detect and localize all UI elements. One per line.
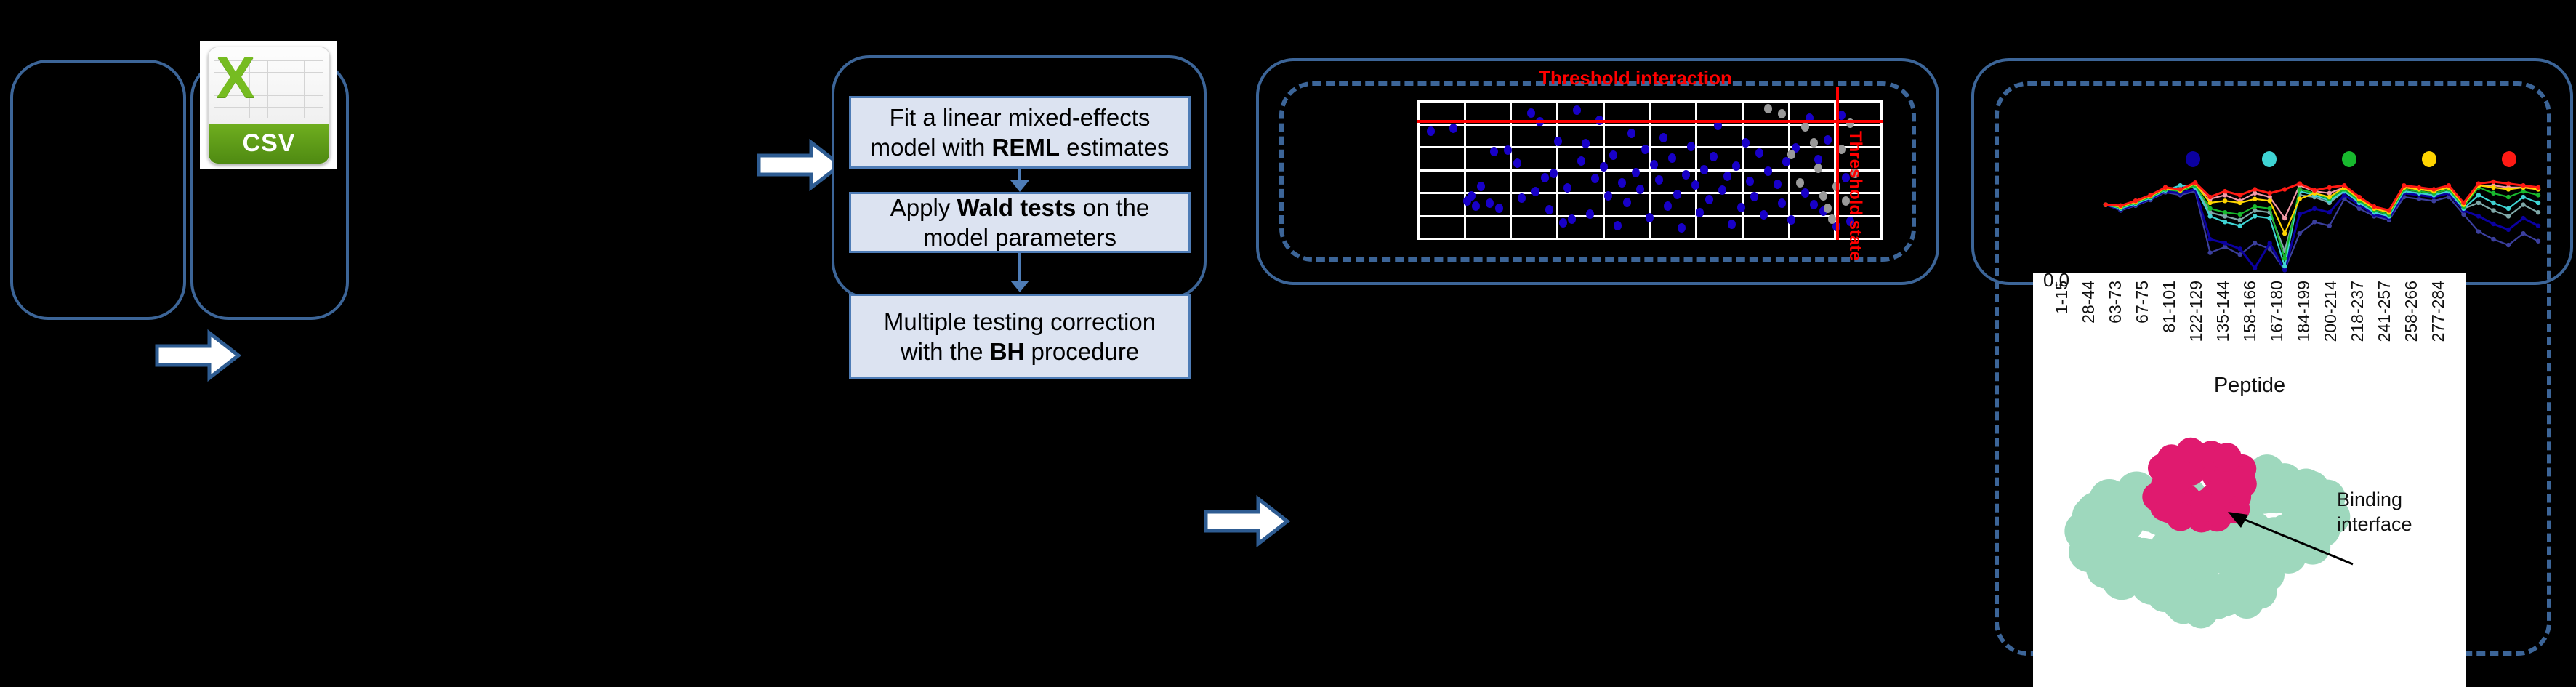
scatter-point (1824, 204, 1832, 213)
scatter-point (1632, 168, 1640, 177)
arrow-into-input-icon (154, 329, 241, 382)
peptide-tick-label: 258-266 (2402, 281, 2421, 342)
scatter-point (1760, 210, 1768, 220)
line-marker (2298, 187, 2302, 191)
csv-file-icon[interactable]: X CSV (208, 47, 330, 164)
line-marker (2312, 220, 2317, 224)
line-marker (2267, 198, 2271, 203)
scatter-point (1659, 133, 1667, 142)
scatter-point (1554, 137, 1562, 146)
scatter-point (1468, 191, 1476, 201)
scatter-point (1787, 150, 1795, 159)
peptide-tick-label: 1-15 (2052, 281, 2072, 314)
line-marker (2491, 237, 2495, 241)
scatter-point (1627, 129, 1635, 138)
line-marker (2104, 202, 2108, 206)
scatter-point (1591, 174, 1599, 183)
line-marker (2237, 201, 2242, 205)
line-marker (2223, 241, 2227, 245)
threshold-state-line (1836, 87, 1839, 240)
line-marker (2163, 185, 2168, 190)
scatter-plot-area[interactable] (1417, 100, 1883, 240)
scatter-point (1559, 218, 1567, 228)
line-marker (2327, 210, 2332, 214)
line-marker (2372, 204, 2376, 209)
line-marker (2267, 241, 2271, 245)
scatter-point (1737, 203, 1745, 212)
scatter-point (1604, 191, 1612, 201)
binding-interface-line1: Binding (2337, 487, 2412, 512)
scatter-point (1801, 188, 1809, 198)
line-marker (2402, 183, 2406, 188)
line-marker (2223, 220, 2227, 224)
scatter-point (1764, 104, 1772, 113)
peptide-tick-label: 122-129 (2186, 281, 2206, 342)
line-marker (2253, 204, 2257, 209)
line-marker (2491, 201, 2495, 205)
scatter-point (1810, 200, 1818, 209)
line-marker (2476, 229, 2481, 233)
peptide-tick-label: 218-237 (2348, 281, 2367, 342)
line-marker (2312, 188, 2317, 193)
line-marker (2327, 195, 2332, 199)
volcano-scatter-chart[interactable]: Threshold interaction Threshold state (1367, 87, 1904, 269)
line-marker (2282, 264, 2287, 268)
scatter-point (1755, 148, 1763, 158)
scatter-point (1541, 173, 1549, 182)
scatter-point (1513, 158, 1521, 168)
line-marker (2476, 201, 2481, 205)
flow-box-wald[interactable]: Apply Wald tests on the model parameters (849, 192, 1191, 253)
csv-sheet-body: X (209, 47, 329, 124)
legend-dot-red (2502, 151, 2516, 167)
flow-box-reml[interactable]: Fit a linear mixed-effects model with RE… (849, 96, 1191, 169)
scatter-point (1531, 187, 1539, 196)
scatter-point (1655, 175, 1663, 185)
scatter-point (1746, 177, 1754, 186)
line-marker (2506, 195, 2511, 199)
line-marker (2447, 183, 2451, 188)
scatter-point (1545, 205, 1553, 214)
peptide-tick-label: 200-214 (2321, 281, 2340, 342)
scatter-point (1828, 214, 1836, 224)
scatter-point (1609, 150, 1617, 160)
binding-interface-line2: interface (2337, 512, 2412, 537)
line-marker (2282, 187, 2287, 191)
line-marker (2298, 196, 2302, 201)
line-marker (2417, 185, 2421, 190)
scatter-point (1742, 138, 1750, 148)
line-marker (2118, 204, 2122, 208)
line-marker (2312, 206, 2317, 211)
scatter-point (1687, 142, 1695, 151)
line-marker (2237, 218, 2242, 222)
scatter-point (1732, 161, 1740, 171)
scatter-point (1691, 180, 1699, 190)
legend-dot-navy (2186, 151, 2200, 167)
line-marker (2298, 212, 2302, 217)
line-marker (2491, 180, 2495, 184)
legend-dot-yellow (2422, 151, 2436, 167)
line-marker (2193, 180, 2197, 185)
line-marker (2536, 185, 2540, 190)
line-marker (2476, 193, 2481, 197)
peptide-line-svg (2037, 172, 2545, 275)
line-marker (2491, 208, 2495, 212)
line-series-t1 (2106, 190, 2538, 270)
line-marker (2237, 212, 2242, 217)
line-marker (2476, 181, 2481, 185)
line-marker (2506, 243, 2511, 247)
legend-dot-green (2342, 151, 2356, 167)
line-marker (2253, 266, 2257, 270)
line-marker (2207, 201, 2212, 205)
line-marker (2223, 189, 2227, 193)
arrowhead-reml-wald-icon (1010, 180, 1029, 192)
scatter-point (1573, 105, 1581, 115)
scatter-point (1682, 170, 1690, 180)
scatter-point (1641, 145, 1649, 154)
line-marker (2431, 187, 2436, 191)
scatter-point (1518, 193, 1526, 203)
line-marker (2536, 210, 2540, 214)
line-marker (2461, 201, 2466, 205)
scatter-point (1778, 109, 1786, 118)
line-marker (2327, 185, 2332, 190)
flow-box-bh-text: Multiple testing correctionwith the BH p… (884, 307, 1156, 366)
line-marker (2133, 198, 2138, 203)
scatter-point (1668, 153, 1676, 163)
binding-interface-annotation: Binding interface (2337, 487, 2412, 537)
line-marker (2298, 181, 2302, 185)
scatter-point (1623, 198, 1631, 207)
scatter-point (1814, 164, 1822, 173)
peptide-tick-label: 63-73 (2106, 281, 2125, 324)
scatter-point (1723, 172, 1731, 181)
scatter-point (1427, 126, 1435, 136)
scatter-point (1705, 195, 1713, 204)
scatter-point (1824, 135, 1832, 145)
line-marker (2207, 237, 2212, 241)
excel-x-glyph: X (213, 52, 258, 104)
peptide-tick-label: 277-284 (2428, 281, 2448, 342)
line-marker (2521, 183, 2525, 188)
arrow-model-to-threshold-icon (1203, 494, 1290, 548)
flow-box-wald-text: Apply Wald tests on the model parameters (857, 193, 1183, 252)
scatter-point (1778, 198, 1786, 208)
threshold-interaction-label: Threshold interaction (1367, 67, 1904, 89)
line-marker (2282, 256, 2287, 260)
scatter-point (1650, 160, 1658, 169)
line-marker (2207, 195, 2212, 199)
line-marker (2491, 222, 2495, 226)
flow-box-reml-text: Fit a linear mixed-effects model with RE… (857, 103, 1183, 162)
line-marker (2521, 216, 2525, 220)
scatter-point (1710, 152, 1718, 161)
peptide-tick-label: 241-257 (2375, 281, 2394, 342)
scatter-point (1646, 213, 1654, 222)
line-marker (2253, 196, 2257, 201)
line-marker (2253, 214, 2257, 218)
scatter-point (1568, 214, 1576, 224)
line-marker (2506, 187, 2511, 191)
line-marker (2536, 201, 2540, 205)
arrowhead-wald-bh-icon (1010, 281, 1029, 292)
flow-box-bh[interactable]: Multiple testing correctionwith the BH p… (849, 294, 1191, 379)
peptide-tick-label: 67-75 (2133, 281, 2152, 324)
line-marker (2521, 195, 2525, 199)
peptide-axis-title: Peptide (2033, 374, 2466, 398)
scatter-point (1664, 201, 1672, 211)
input-data-stage[interactable] (10, 60, 186, 320)
scatter-point (1495, 204, 1503, 213)
scatter-point (1728, 220, 1736, 229)
scatter-point (1577, 156, 1585, 166)
csv-label: CSV (209, 124, 329, 164)
line-marker (2207, 206, 2212, 211)
peptide-tick-label: 81-101 (2160, 281, 2179, 333)
line-marker (2223, 198, 2227, 203)
line-marker (2342, 183, 2346, 188)
line-marker (2491, 185, 2495, 190)
scatter-point (1586, 209, 1594, 219)
peptide-chart-legend (2037, 150, 2545, 169)
line-marker (2207, 250, 2212, 254)
scatter-point (1678, 223, 1686, 233)
line-marker (2521, 202, 2525, 206)
scatter-point (1477, 182, 1485, 191)
peptide-tick-label: 28-44 (2079, 281, 2098, 324)
peptide-tick-label: 167-180 (2267, 281, 2287, 342)
connector-wald-bh (1018, 253, 1021, 282)
line-marker (2521, 231, 2525, 236)
line-marker (2476, 214, 2481, 218)
line-marker (2253, 241, 2257, 245)
scatter-point (1810, 138, 1818, 148)
scatter-point (1614, 221, 1622, 230)
scatter-point (1801, 122, 1809, 132)
scatter-point (1774, 180, 1782, 189)
line-marker (2506, 206, 2511, 211)
scatter-point (1700, 165, 1708, 174)
scatter-point (1618, 178, 1626, 188)
peptide-tick-label: 158-166 (2240, 281, 2260, 342)
legend-dot-cyan (2262, 151, 2277, 167)
line-marker (2491, 191, 2495, 196)
threshold-interaction-line (1417, 120, 1883, 123)
line-marker (2207, 214, 2212, 218)
scatter-point (1764, 166, 1772, 176)
line-marker (2237, 223, 2242, 228)
line-marker (2298, 231, 2302, 236)
line-marker (2237, 193, 2242, 197)
scatter-point (1449, 124, 1457, 133)
scatter-point (1750, 192, 1758, 201)
scatter-point (1486, 198, 1494, 208)
line-marker (2506, 214, 2511, 218)
line-marker (2223, 210, 2227, 214)
peptide-uptake-chart[interactable] (2037, 150, 2545, 275)
line-marker (2327, 223, 2332, 228)
scatter-point (1819, 191, 1827, 201)
line-marker (2506, 228, 2511, 232)
peptide-axis-and-structure-card[interactable]: 0.0 1-1528-4463-7367-7581-101122-129135-… (2033, 273, 2466, 687)
scatter-point (1814, 155, 1822, 164)
peptide-tick-label: 184-199 (2294, 281, 2314, 342)
line-series-t0 (2106, 191, 2538, 270)
scatter-point (1527, 108, 1535, 118)
line-marker (2178, 187, 2182, 191)
scatter-point (1673, 190, 1681, 199)
line-marker (2536, 223, 2540, 228)
line-marker (2282, 231, 2287, 236)
line-marker (2387, 208, 2391, 212)
threshold-state-label: Threshold state (1845, 131, 1865, 261)
line-marker (2536, 239, 2540, 244)
line-marker (2536, 193, 2540, 197)
peptide-tick-label: 135-144 (2213, 281, 2233, 342)
arrow-csv-to-model-icon (756, 138, 843, 192)
scatter-point (1472, 201, 1480, 211)
line-marker (2237, 246, 2242, 251)
line-marker (2357, 195, 2362, 199)
scatter-point (1696, 208, 1704, 217)
line-marker (2267, 206, 2271, 211)
line-marker (2237, 252, 2242, 257)
line-marker (2267, 191, 2271, 196)
line-marker (2282, 216, 2287, 220)
scatter-point (1796, 178, 1804, 188)
peptide-tick-labels: 1-1528-4463-7367-7581-101122-129135-1441… (2052, 281, 2459, 368)
scatter-point (1787, 215, 1795, 225)
line-marker (2506, 181, 2511, 185)
scatter-point (1563, 183, 1571, 193)
line-series-t3 (2106, 185, 2538, 258)
scatter-point (1490, 147, 1498, 156)
line-marker (2148, 193, 2152, 197)
line-marker (2253, 187, 2257, 191)
